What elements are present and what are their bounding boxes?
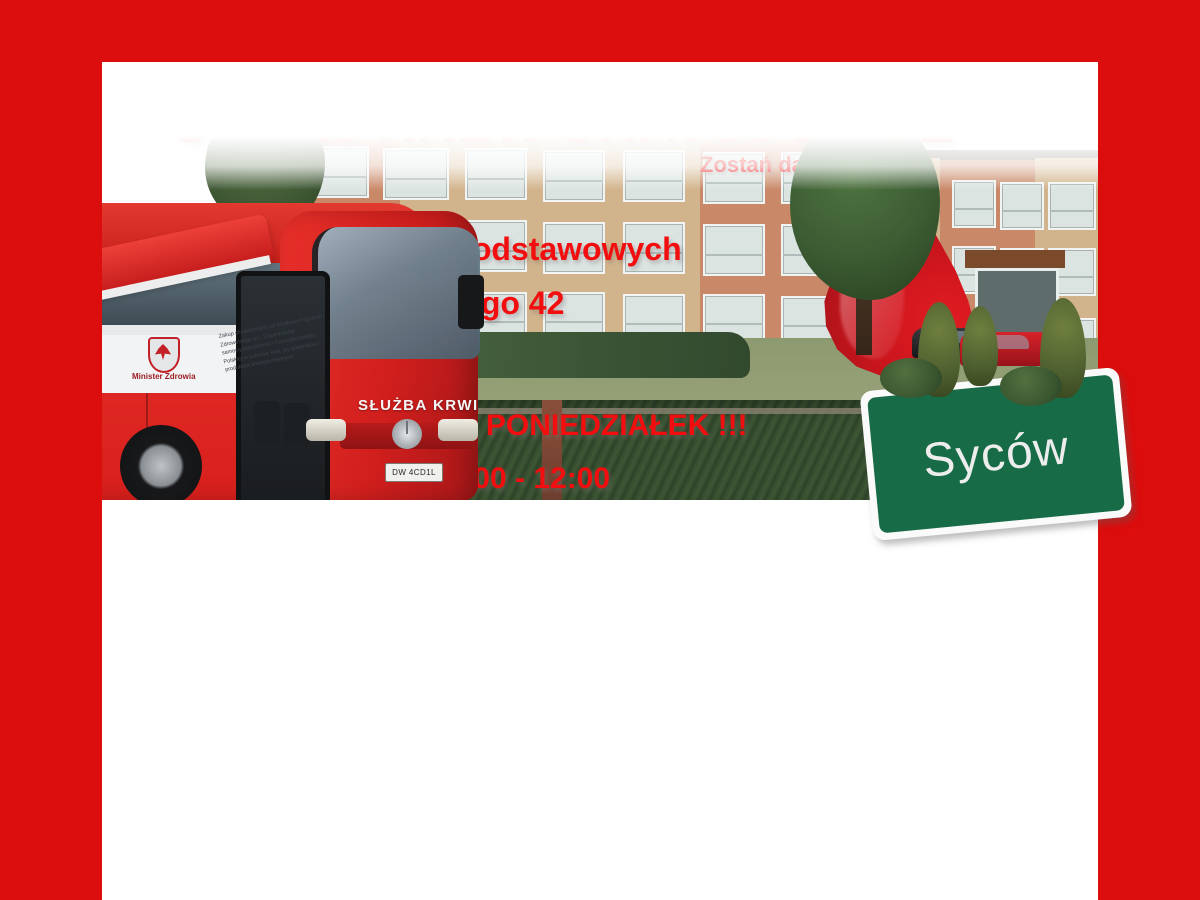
polish-eagle-emblem-icon: [148, 337, 180, 373]
bus-door: [236, 271, 330, 500]
bus-license-plate: DW 4CD1L: [385, 463, 443, 482]
bus-mirror: [458, 275, 484, 329]
sky-fade: [102, 70, 1098, 190]
bus-headlight: [438, 419, 478, 441]
mercedes-star-icon: [392, 419, 422, 449]
bus-wheel: [120, 425, 202, 500]
bus-windshield: [312, 227, 480, 359]
bus-headlight: [306, 419, 346, 441]
building-window: [703, 224, 765, 276]
shrub: [1000, 366, 1062, 406]
blood-donation-poster: kt poboru krwi Minister Zdrowia Zakup sf…: [0, 0, 1200, 900]
ministry-label: Minister Zdrowia: [132, 372, 196, 381]
shrub: [880, 358, 942, 398]
bus-front-text: SŁUŻBA KRWI: [358, 397, 479, 414]
school-entrance-nameplate: [965, 250, 1065, 268]
blood-donation-bus: kt poboru krwi Minister Zdrowia Zakup sf…: [102, 175, 520, 500]
bus-seat: [254, 401, 280, 443]
